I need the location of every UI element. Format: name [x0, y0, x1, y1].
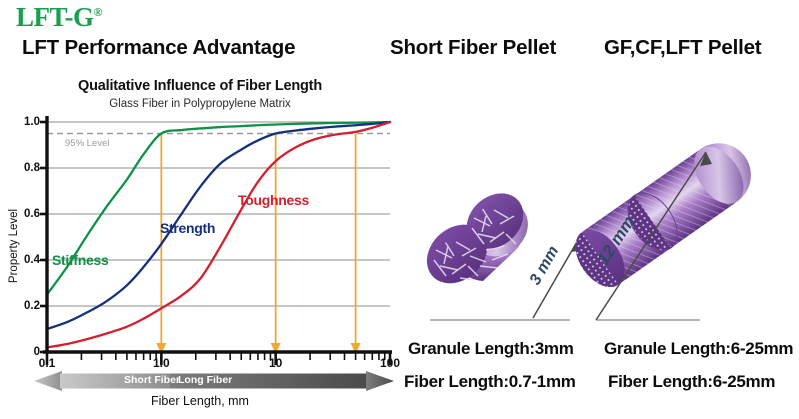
short-fiber-pellet-graphic	[415, 182, 539, 295]
band-label-short-fiber: Short Fiber	[124, 374, 180, 386]
chart-plot-area	[0, 72, 400, 419]
curve-toughness	[47, 122, 390, 347]
pellet-diagram: 3 mm 12 mm	[400, 70, 799, 340]
spec-short-granule-length: Granule Length:3mm	[408, 339, 574, 359]
heading-performance: LFT Performance Advantage	[22, 36, 295, 60]
pellet-illustrations: 3 mm 12 mm	[400, 70, 799, 340]
curve-label-toughness: Toughness	[238, 192, 309, 208]
spec-long-fiber-length: Fiber Length:6-25mm	[608, 372, 775, 392]
dimension-label-3mm: 3 mm	[527, 243, 563, 288]
spec-short-fiber-length: Fiber Length:0.7-1mm	[404, 372, 576, 392]
dimension-arrow-3mm: 3 mm	[527, 240, 582, 318]
band-label-long-fiber: Long Fiber	[178, 374, 232, 386]
heading-lft-pellet: GF,CF,LFT Pellet	[604, 36, 761, 60]
brand-logo: LFT-G®	[16, 2, 102, 33]
heading-short-pellet: Short Fiber Pellet	[390, 36, 556, 60]
curve-label-stiffness: Stiffness	[52, 252, 108, 268]
registered-mark: ®	[94, 5, 102, 19]
lft-pellet-graphic	[565, 131, 763, 296]
spec-long-granule-length: Granule Length:6-25mm	[604, 339, 793, 359]
poster-root: LFT-G® LFT Performance Advantage Short F…	[0, 0, 799, 419]
fiber-length-chart: Qualitative Influence of Fiber Length Gl…	[0, 72, 400, 419]
fiber-range-bar: Short Fiber Long Fiber	[0, 370, 400, 392]
curve-strength	[47, 122, 390, 329]
curve-label-strength: Strength	[160, 220, 215, 236]
reference-line-label: 95% Level	[65, 138, 109, 149]
brand-name: LFT-G	[16, 2, 94, 32]
